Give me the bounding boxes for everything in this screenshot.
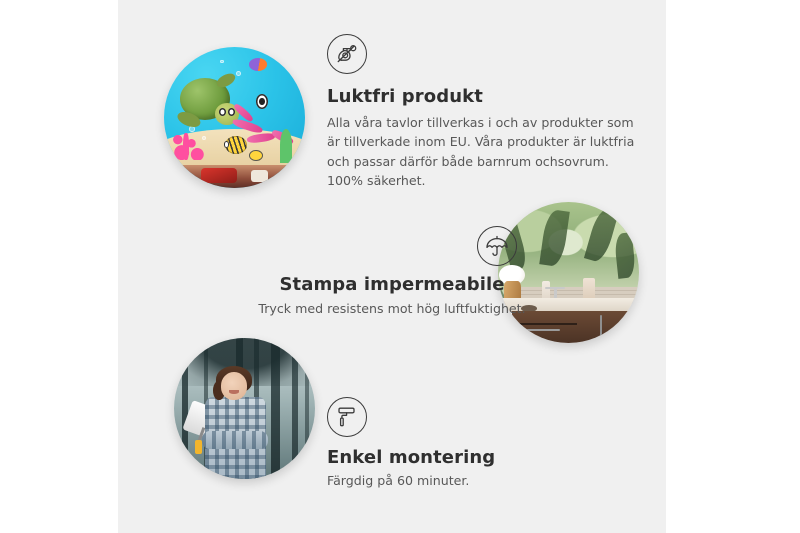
- small-yellow-fish: [249, 150, 263, 161]
- folded-arms: [202, 431, 268, 449]
- seaweed: [280, 129, 293, 163]
- feature-description: Alla våra tavlor tillverkas i och av pro…: [327, 113, 637, 190]
- forest-scene: [174, 338, 315, 479]
- bubble-icon: [236, 71, 241, 76]
- feature-title: Stampa impermeabile: [220, 274, 564, 295]
- feature-description: Tryck med resistens mot hög luftfuktighe…: [220, 299, 564, 318]
- feature-title: Enkel montering: [327, 447, 627, 468]
- pink-coral: [170, 123, 209, 160]
- purple-fish: [249, 58, 267, 71]
- no-odour-spray-bottle-icon: [327, 34, 367, 74]
- underwater-background: [164, 47, 305, 188]
- feature-block-odourless: Luktfri produkt Alla våra tavlor tillver…: [327, 34, 637, 190]
- drawer-seam: [515, 323, 577, 325]
- feature-description: Färgdig på 60 minuter.: [327, 471, 627, 490]
- cabinet-handle: [600, 315, 603, 338]
- product-image-underwater-kids-scene: [164, 47, 305, 188]
- paint-roller-icon: [327, 397, 367, 437]
- paint-roller-grip: [195, 440, 202, 454]
- bubble-icon: [220, 60, 224, 64]
- product-image-woman-with-paint-roller-forest: [174, 338, 315, 479]
- infographic-panel: Luktfri produkt Alla våra tavlor tillver…: [118, 0, 666, 533]
- feature-block-waterproof: Stampa impermeabile Tryck med resistens …: [220, 226, 564, 318]
- umbrella-icon: [477, 226, 517, 266]
- face: [221, 372, 248, 400]
- product-benefits-infographic: Luktfri produkt Alla våra tavlor tillver…: [0, 0, 800, 533]
- feature-block-easy-installation: Enkel montering Färgdig på 60 minuter.: [327, 397, 627, 490]
- feature-title: Luktfri produkt: [327, 86, 637, 107]
- room-foreground-strip: [164, 165, 305, 188]
